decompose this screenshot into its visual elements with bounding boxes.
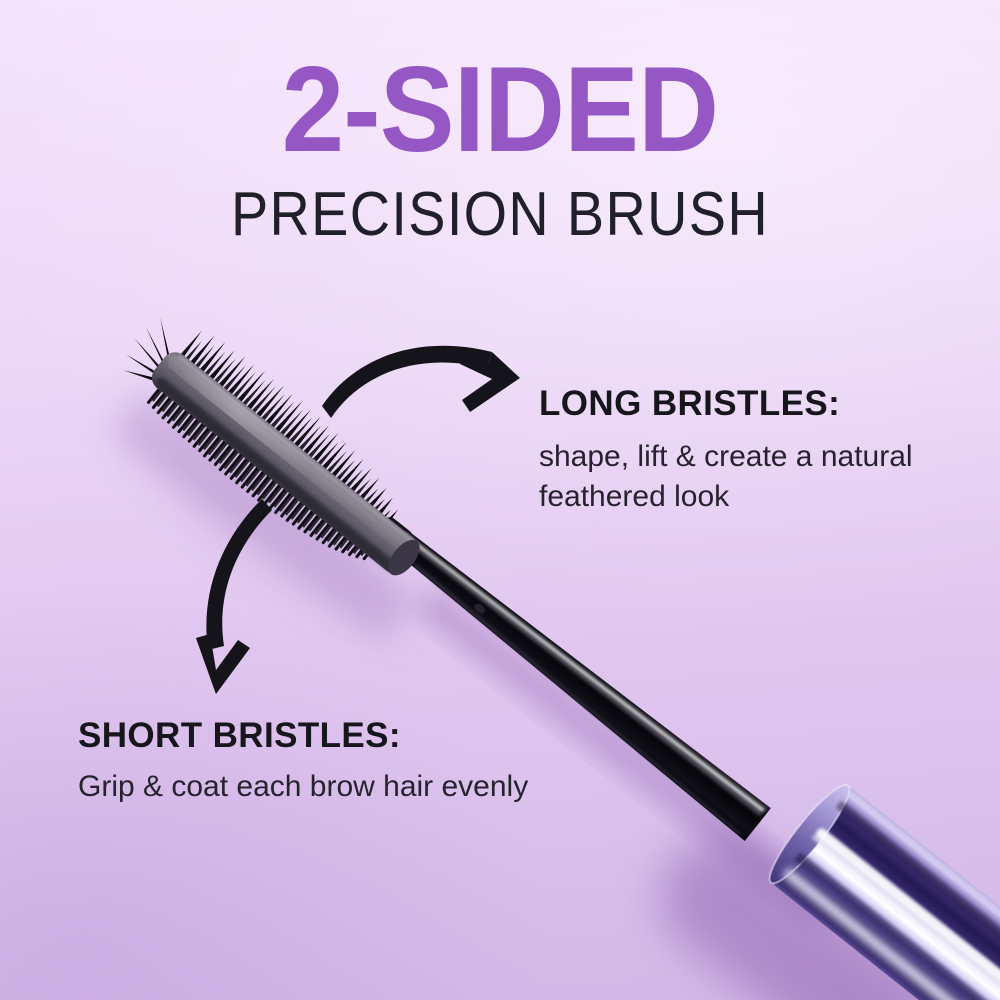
short-bristles-row (141, 382, 373, 577)
wand-cap (761, 777, 1000, 1000)
brush-tip-bristles (114, 303, 200, 393)
callout-short-bristles-title: SHORT BRISTLES: (78, 718, 598, 753)
page-title: 2-SIDED (40, 48, 960, 170)
callout-short-bristles: SHORT BRISTLES: Grip & coat each brow ha… (78, 718, 598, 807)
curved-arrow-right-icon (322, 346, 520, 418)
page-subtitle: PRECISION BRUSH (50, 184, 950, 246)
callout-long-bristles-title: LONG BRISTLES: (539, 386, 949, 421)
callout-long-bristles-body: shape, lift & create a natural feathered… (539, 437, 949, 516)
long-bristles-row (174, 323, 416, 530)
product-feature-poster: 2-SIDED PRECISION BRUSH LONG BRISTLES: s… (0, 0, 1000, 1000)
brush-head (102, 294, 450, 601)
brush-core (147, 347, 426, 581)
callout-long-bristles: LONG BRISTLES: shape, lift & create a na… (539, 386, 949, 516)
headline-block: 2-SIDED PRECISION BRUSH (0, 48, 1000, 246)
curved-arrow-down-icon (196, 499, 272, 694)
callout-short-bristles-body: Grip & coat each brow hair evenly (78, 767, 598, 807)
